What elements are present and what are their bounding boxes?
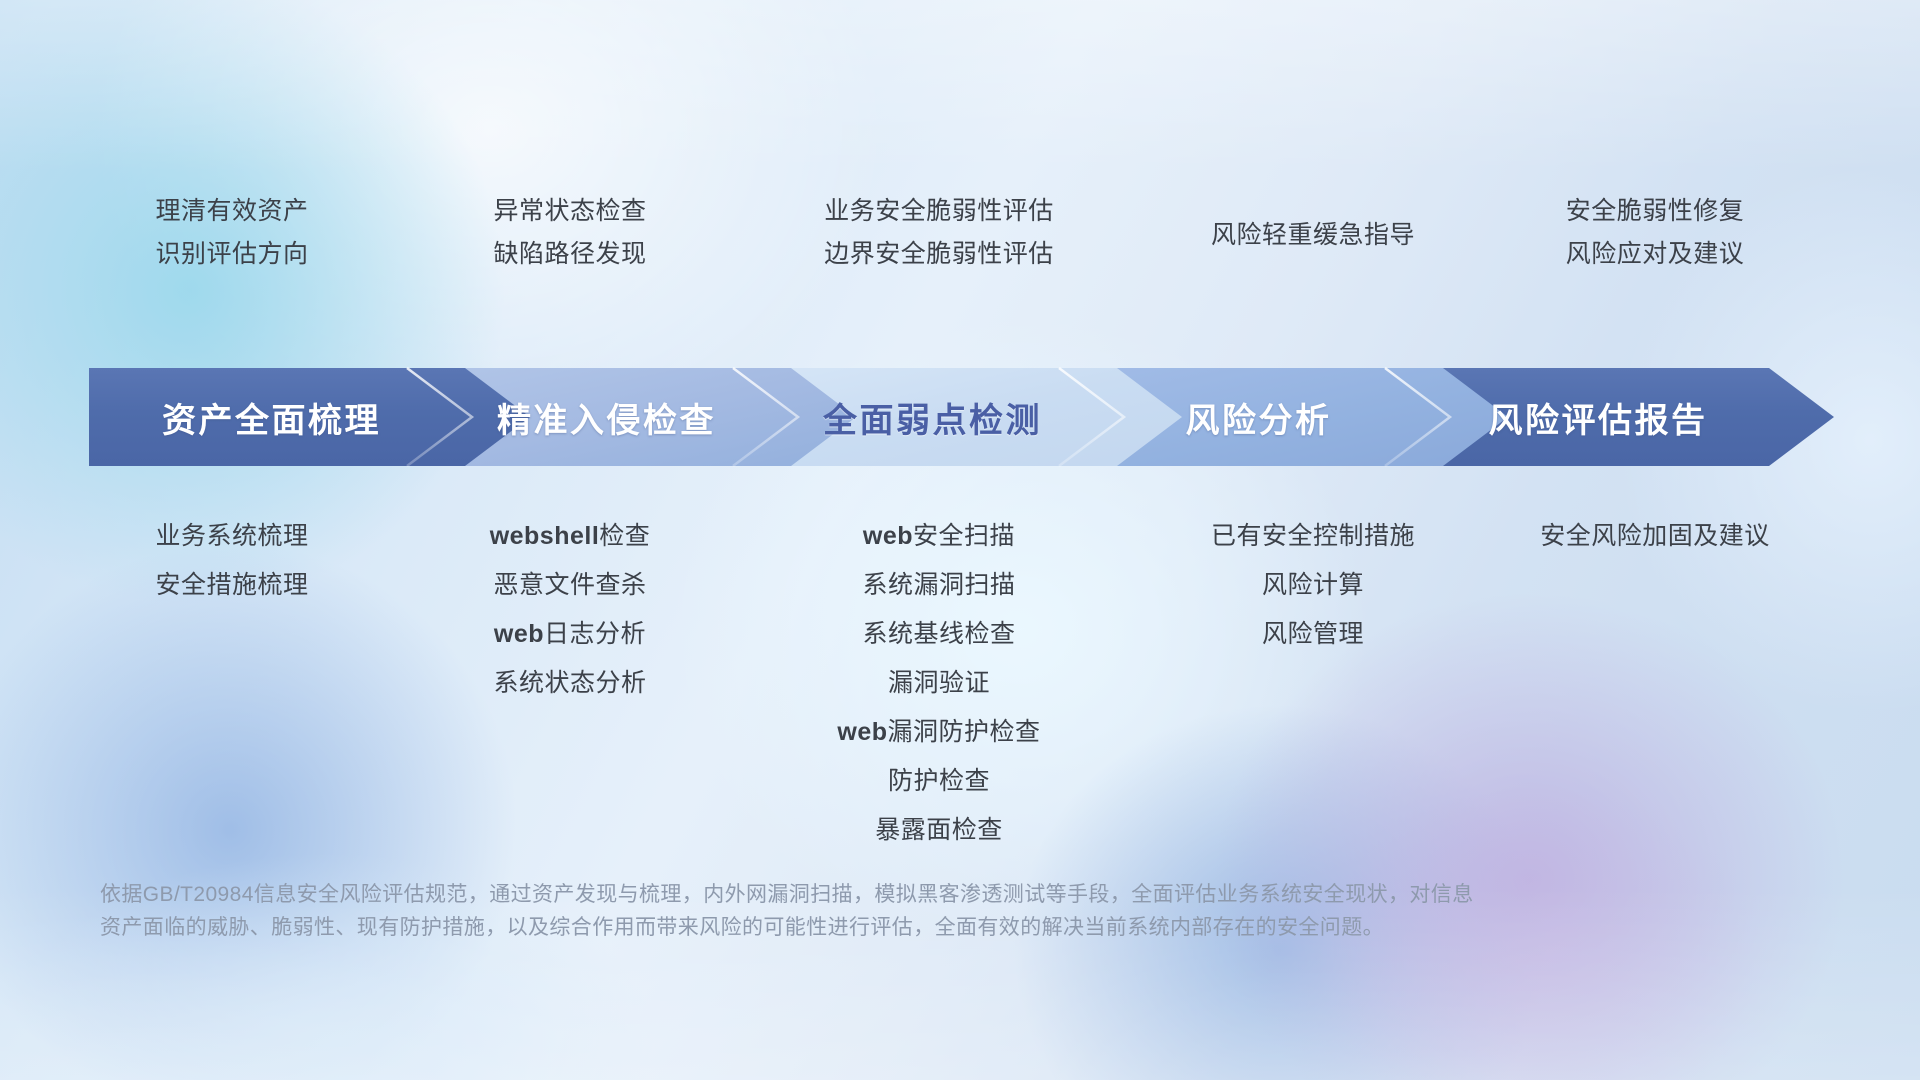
- bottom-item-text: 业务系统梳理: [155, 522, 308, 550]
- bottom-item-text: 检查: [599, 522, 650, 550]
- bottom-item-text: 漏洞防护检查: [888, 718, 1041, 746]
- bottom-item-text: 漏洞验证: [888, 669, 990, 697]
- bottom-item: web漏洞防护检查: [738, 708, 1140, 757]
- bottom-item-text: 风险管理: [1262, 620, 1364, 648]
- bottom-item-prefix: web: [837, 718, 887, 746]
- bottom-item: web安全扫描: [738, 512, 1140, 561]
- bottom-item-text: 日志分析: [544, 620, 646, 648]
- bottom-item-text: 系统漏洞扫描: [862, 571, 1015, 599]
- bottom-item-text: 系统状态分析: [493, 669, 646, 697]
- bottom-item: 安全风险加固及建议: [1454, 512, 1856, 561]
- bottom-item-text: 恶意文件查杀: [493, 571, 646, 599]
- bottom-item: 系统漏洞扫描: [738, 561, 1140, 610]
- bottom-item-text: 安全扫描: [913, 522, 1015, 550]
- bottom-item: 系统基线检查: [738, 610, 1140, 659]
- footer-line: 依据GB/T20984信息安全风险评估规范，通过资产发现与梳理，内外网漏洞扫描，…: [100, 878, 1720, 911]
- footer-line: 资产面临的威胁、脆弱性、现有防护措施，以及综合作用而带来风险的可能性进行评估，全…: [100, 911, 1720, 944]
- bottom-item: webshell检查: [369, 512, 771, 561]
- bottom-item-text: 防护检查: [888, 767, 990, 795]
- bottom-item-text: 风险计算: [1262, 571, 1364, 599]
- bottom-item: 恶意文件查杀: [369, 561, 771, 610]
- bottom-item: 漏洞验证: [738, 659, 1140, 708]
- top-item: 业务安全脆弱性评估: [738, 190, 1140, 233]
- footer-description: 依据GB/T20984信息安全风险评估规范，通过资产发现与梳理，内外网漏洞扫描，…: [100, 878, 1720, 944]
- top-item: 边界安全脆弱性评估: [738, 233, 1140, 276]
- bottom-item-text: 已有安全控制措施: [1211, 522, 1415, 550]
- top-item: 安全脆弱性修复: [1454, 190, 1856, 233]
- bottom-item-prefix: webshell: [490, 522, 600, 550]
- top-item: 缺陷路径发现: [369, 233, 771, 276]
- bottom-item-text: 暴露面检查: [875, 816, 1003, 844]
- top-item: 风险应对及建议: [1454, 233, 1856, 276]
- bottom-item: 防护检查: [738, 757, 1140, 806]
- stage-top-items-risk-report: 安全脆弱性修复 风险应对及建议: [1454, 190, 1856, 276]
- bottom-item: 系统状态分析: [369, 659, 771, 708]
- stage-top-items-intrusion-check: 异常状态检查 缺陷路径发现: [369, 190, 771, 276]
- stage-arrow-band: [89, 368, 1834, 466]
- bottom-item-text: 安全措施梳理: [155, 571, 308, 599]
- bottom-item: 风险管理: [1112, 610, 1514, 659]
- process-diagram: 理清有效资产 识别评估方向 异常状态检查 缺陷路径发现 业务安全脆弱性评估 边界…: [0, 0, 1920, 1080]
- bottom-item-prefix: web: [863, 522, 913, 550]
- bottom-item: 暴露面检查: [738, 806, 1140, 855]
- stage-bottom-items-risk-report: 安全风险加固及建议: [1454, 512, 1856, 561]
- bottom-item: web日志分析: [369, 610, 771, 659]
- stage-bottom-items-intrusion-check: webshell检查恶意文件查杀web日志分析系统状态分析: [369, 512, 771, 708]
- bottom-item-prefix: web: [494, 620, 544, 648]
- bottom-item-text: 系统基线检查: [862, 620, 1015, 648]
- stage-top-items-weakness-detection: 业务安全脆弱性评估 边界安全脆弱性评估: [738, 190, 1140, 276]
- bottom-item-text: 安全风险加固及建议: [1540, 522, 1770, 550]
- bottom-item: 风险计算: [1112, 561, 1514, 610]
- stage-bottom-items-weakness-detection: web安全扫描系统漏洞扫描系统基线检查漏洞验证web漏洞防护检查防护检查暴露面检…: [738, 512, 1140, 855]
- top-item: 异常状态检查: [369, 190, 771, 233]
